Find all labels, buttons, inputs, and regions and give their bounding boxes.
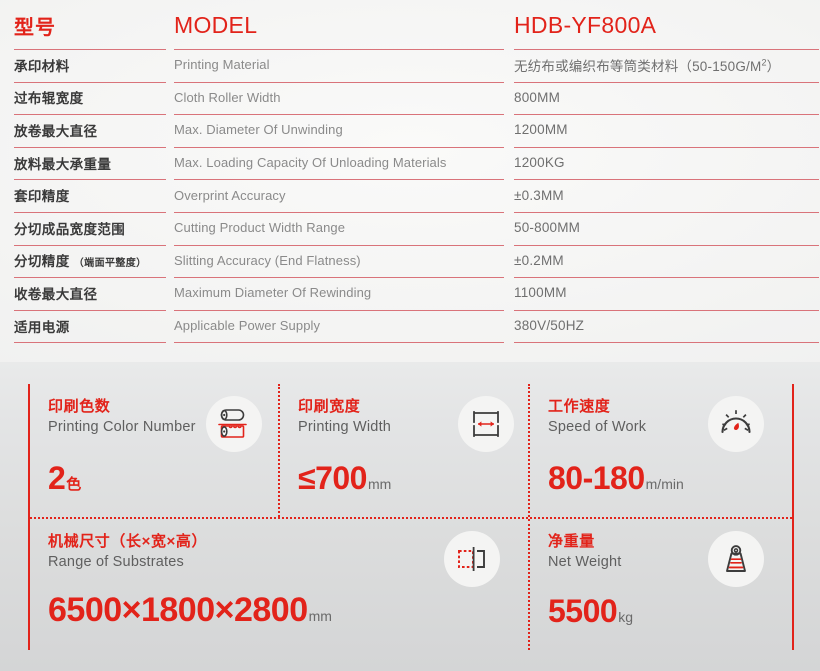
spec-label-cn: 放卷最大直径 — [14, 120, 97, 140]
spec-value: 380V/50HZ — [514, 318, 584, 333]
header-cell-cn: 型号 — [14, 4, 166, 50]
feature-card-row-bottom: 机械尺寸（长×宽×高） Range of Substrates 6500×180… — [30, 517, 792, 650]
row-cell-cn: 分切成品宽度范围 — [14, 213, 166, 246]
row-cell-cn: 分切精度 （端面平整度） — [14, 246, 166, 279]
spec-label-en: Printing Material — [174, 57, 270, 72]
feature-cards-frame: 印刷色数 Printing Color Number — [28, 384, 794, 650]
row-cell-en: Max. Diameter Of Unwinding — [174, 115, 504, 148]
spec-label-cn: 套印精度 — [14, 185, 70, 205]
card-value-number: 6500×1800×2800 — [48, 591, 308, 629]
row-cell-en: Printing Material — [174, 50, 504, 83]
spec-value: 800MM — [514, 90, 560, 105]
row-cell-cn: 收卷最大直径 — [14, 278, 166, 311]
spec-label-en: Max. Loading Capacity Of Unloading Mater… — [174, 155, 446, 170]
card-value-unit: mm — [309, 608, 332, 624]
spec-value: 1200KG — [514, 155, 565, 170]
row-cell-value: 50-800MM — [514, 213, 819, 246]
row-cell-cn: 放卷最大直径 — [14, 115, 166, 148]
spec-value: 1200MM — [514, 122, 568, 137]
spec-label-en: Slitting Accuracy (End Flatness) — [174, 253, 361, 268]
spec-label-cn: 放料最大承重量 — [14, 153, 111, 173]
row-cell-cn: 过布辊宽度 — [14, 83, 166, 116]
specification-table: 型号 MODEL HDB-YF800A 承印材料 Printing Materi… — [0, 0, 820, 343]
spec-label-en: Applicable Power Supply — [174, 318, 320, 333]
row-cell-cn: 适用电源 — [14, 311, 166, 344]
header-label-en: MODEL — [174, 12, 257, 39]
table-row: 分切精度 （端面平整度） Slitting Accuracy (End Flat… — [0, 246, 820, 279]
speedometer-icon — [708, 396, 764, 452]
table-row: 过布辊宽度 Cloth Roller Width 800MM — [0, 83, 820, 116]
card-value-unit: mm — [368, 476, 391, 492]
row-cell-en: Applicable Power Supply — [174, 311, 504, 344]
row-cell-value: 1200KG — [514, 148, 819, 181]
feature-card-net-weight: 净重量 Net Weight 5500kg — [528, 519, 792, 650]
card-value-speed-of-work: 80-180m/min — [548, 460, 684, 497]
spec-label-en: Cutting Product Width Range — [174, 220, 345, 235]
row-cell-en: Maximum Diameter Of Rewinding — [174, 278, 504, 311]
header-cell-value: HDB-YF800A — [514, 4, 819, 50]
width-measure-icon — [458, 396, 514, 452]
row-cell-cn: 放料最大承重量 — [14, 148, 166, 181]
card-value-number: 2 — [48, 460, 65, 496]
feature-cards-panel: 印刷色数 Printing Color Number — [0, 362, 820, 671]
model-number: HDB-YF800A — [514, 12, 656, 39]
spec-label-en: Max. Diameter Of Unwinding — [174, 122, 343, 137]
feature-card-speed-of-work: 工作速度 Speed of Work — [528, 384, 792, 517]
row-cell-en: Max. Loading Capacity Of Unloading Mater… — [174, 148, 504, 181]
card-value-number: ≤700 — [298, 460, 367, 496]
table-row: 收卷最大直径 Maximum Diameter Of Rewinding 110… — [0, 278, 820, 311]
table-row: 放料最大承重量 Max. Loading Capacity Of Unloadi… — [0, 148, 820, 181]
spec-label-cn: 适用电源 — [14, 316, 70, 336]
feature-card-row-top: 印刷色数 Printing Color Number — [30, 384, 792, 517]
spec-label-en: Overprint Accuracy — [174, 188, 286, 203]
row-cell-value: 无纺布或编织布等筒类材料（50-150G/M2） — [514, 50, 819, 83]
table-row: 承印材料 Printing Material 无纺布或编织布等筒类材料（50-1… — [0, 50, 820, 83]
spec-label-cn: 承印材料 — [14, 55, 70, 75]
card-value-unit: kg — [618, 609, 633, 625]
dimension-box-icon — [444, 531, 500, 587]
row-cell-value: ±0.2MM — [514, 246, 819, 279]
header-cell-en: MODEL — [174, 4, 504, 50]
spec-value: 无纺布或编织布等筒类材料（50-150G/M2） — [514, 55, 780, 75]
row-cell-cn: 承印材料 — [14, 50, 166, 83]
spec-label-en: Maximum Diameter Of Rewinding — [174, 285, 371, 300]
row-cell-en: Cloth Roller Width — [174, 83, 504, 116]
feature-card-printing-width: 印刷宽度 Printing Width ≤700mm — [278, 384, 528, 517]
card-value-net-weight: 5500kg — [548, 593, 633, 630]
spec-value: ±0.2MM — [514, 253, 564, 268]
card-value-number: 5500 — [548, 593, 617, 629]
row-cell-value: 800MM — [514, 83, 819, 116]
row-cell-value: ±0.3MM — [514, 180, 819, 213]
row-cell-value: 1100MM — [514, 278, 819, 311]
spec-value: ±0.3MM — [514, 188, 564, 203]
header-label-cn: 型号 — [14, 11, 56, 40]
row-cell-en: Cutting Product Width Range — [174, 213, 504, 246]
table-row: 套印精度 Overprint Accuracy ±0.3MM — [0, 180, 820, 213]
spec-value: 50-800MM — [514, 220, 580, 235]
spec-value: 1100MM — [514, 285, 567, 300]
spec-label-cn: 收卷最大直径 — [14, 283, 97, 303]
feature-card-machine-dimensions: 机械尺寸（长×宽×高） Range of Substrates 6500×180… — [30, 519, 528, 650]
card-value-number: 80-180 — [548, 460, 645, 496]
table-header-row: 型号 MODEL HDB-YF800A — [0, 4, 820, 50]
feature-card-printing-color-number: 印刷色数 Printing Color Number — [30, 384, 278, 517]
row-cell-value: 1200MM — [514, 115, 819, 148]
spec-label-cn: 分切精度 （端面平整度） — [14, 250, 147, 270]
spec-label-cn: 过布辊宽度 — [14, 87, 84, 107]
spec-sheet-page: 型号 MODEL HDB-YF800A 承印材料 Printing Materi… — [0, 0, 820, 671]
row-cell-cn: 套印精度 — [14, 180, 166, 213]
spec-label-en: Cloth Roller Width — [174, 90, 281, 105]
card-value-unit: 色 — [66, 476, 81, 493]
row-cell-en: Slitting Accuracy (End Flatness) — [174, 246, 504, 279]
weight-icon — [708, 531, 764, 587]
card-value-machine-dimensions: 6500×1800×2800mm — [48, 591, 332, 630]
table-row: 放卷最大直径 Max. Diameter Of Unwinding 1200MM — [0, 115, 820, 148]
card-value-printing-color-number: 2色 — [48, 460, 81, 497]
spec-label-cn: 分切成品宽度范围 — [14, 218, 125, 238]
fabric-roller-icon — [206, 396, 262, 452]
table-row: 适用电源 Applicable Power Supply 380V/50HZ — [0, 311, 820, 344]
row-cell-value: 380V/50HZ — [514, 311, 819, 344]
card-value-printing-width: ≤700mm — [298, 460, 391, 497]
row-cell-en: Overprint Accuracy — [174, 180, 504, 213]
card-value-unit: m/min — [646, 476, 684, 492]
table-row: 分切成品宽度范围 Cutting Product Width Range 50-… — [0, 213, 820, 246]
